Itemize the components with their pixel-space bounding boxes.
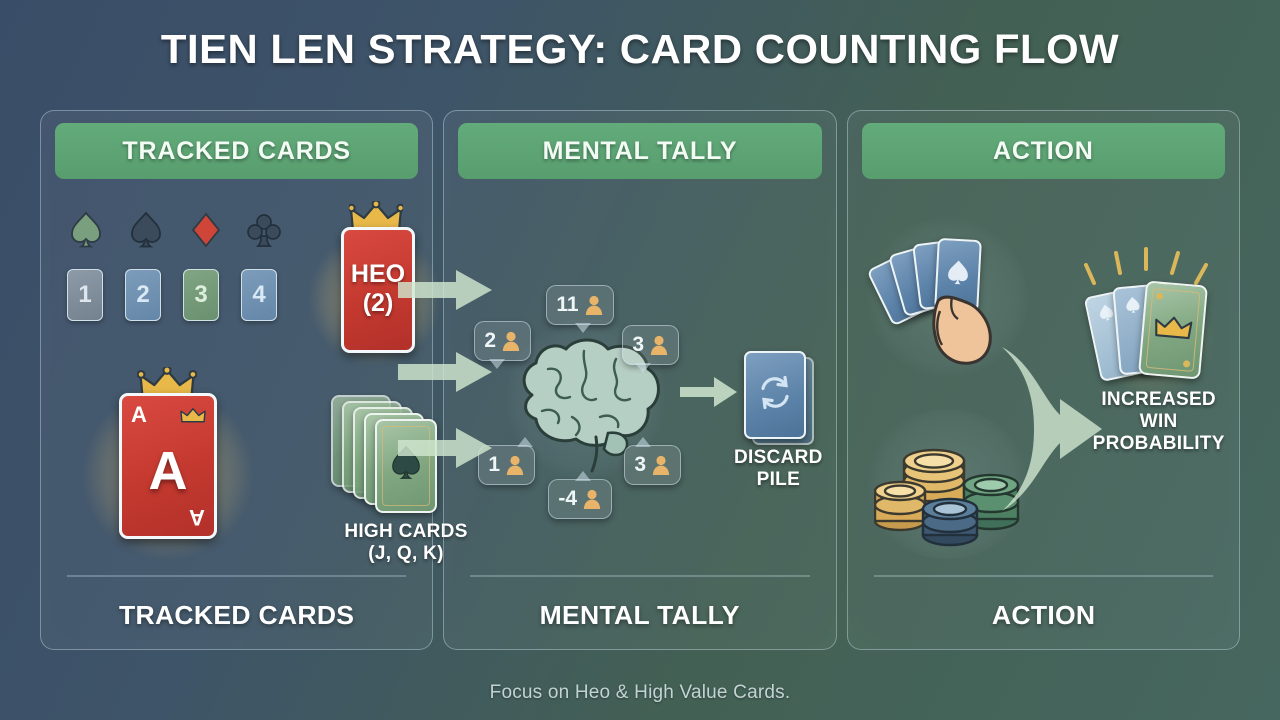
diamond-icon — [189, 211, 223, 249]
panel-tracked-cards: TRACKED CARDS 1 — [40, 110, 433, 650]
tally-bubble: -4 — [548, 479, 612, 519]
mini-card-value: 4 — [252, 281, 265, 309]
tally-bubble: 3 — [622, 325, 679, 365]
ace-card-corner-rank: A — [189, 504, 205, 530]
outcome-label-line3: PROBABILITY — [1066, 433, 1252, 455]
panel-header-mental-tally: MENTAL TALLY — [458, 123, 821, 179]
footer-caption: Focus on Heo & High Value Cards. — [0, 682, 1280, 704]
panels-container: TRACKED CARDS 1 — [40, 110, 1240, 650]
panel-body-action: INCREASED WIN PROBABILITY — [848, 189, 1239, 569]
discard-pile-label-line2: PILE — [710, 469, 846, 491]
person-icon — [584, 294, 604, 316]
mini-card-value: 1 — [78, 281, 91, 309]
person-icon — [649, 334, 669, 356]
discard-pile-card — [744, 351, 806, 439]
spade-icon — [1124, 295, 1142, 319]
outcome-label: INCREASED WIN PROBABILITY — [1066, 389, 1252, 455]
discard-pile-label: DISCARD PILE — [710, 447, 846, 491]
flow-arrow-tracked-to-tally-1 — [398, 266, 494, 319]
panel-header-action: ACTION — [862, 123, 1225, 179]
person-icon — [582, 488, 602, 510]
mini-card: 2 — [125, 269, 161, 321]
panel-body-mental-tally: 11 2 3 1 3 — [444, 189, 835, 569]
flow-arrow-tracked-to-tally-3 — [398, 424, 494, 477]
panel-mental-tally: MENTAL TALLY — [443, 110, 836, 650]
crown-icon — [180, 407, 206, 429]
panel-footer-mental-tally: MENTAL TALLY — [440, 600, 839, 631]
corner-dot — [1155, 292, 1163, 300]
flow-arrow-tracked-to-tally-2 — [398, 348, 494, 401]
ace-card-center-rank: A — [122, 440, 214, 502]
tally-bubble: 3 — [624, 445, 681, 485]
discard-pile-label-line1: DISCARD — [710, 447, 846, 469]
outcome-card-crown — [1138, 280, 1208, 379]
tally-bubble-value: 3 — [634, 453, 646, 477]
panel-divider — [874, 575, 1213, 577]
spade-icon — [129, 211, 163, 249]
panel-divider — [470, 575, 809, 577]
tally-bubble-value: 3 — [632, 333, 644, 357]
outcome-label-line1: INCREASED — [1066, 389, 1252, 411]
club-icon — [247, 211, 281, 249]
panel-footer-tracked-cards: TRACKED CARDS — [37, 600, 436, 631]
panel-body-tracked-cards: 1 2 3 4 HEO (2) — [41, 189, 432, 569]
mini-card: 1 — [67, 269, 103, 321]
ace-card-corner-rank: A — [131, 402, 147, 428]
corner-dot — [1182, 360, 1190, 368]
panel-header-tracked-cards: TRACKED CARDS — [55, 123, 418, 179]
refresh-icon — [757, 375, 793, 416]
page-title: TIEN LEN STRATEGY: CARD COUNTING FLOW — [0, 26, 1280, 73]
person-icon — [651, 454, 671, 476]
panel-divider — [67, 575, 406, 577]
flow-arrow-to-discard — [680, 375, 738, 414]
mini-card-value: 2 — [136, 281, 149, 309]
outcome-label-line2: WIN — [1066, 411, 1252, 433]
spade-icon — [69, 211, 103, 249]
mini-card: 3 — [183, 269, 219, 321]
tally-bubble-value: -4 — [558, 487, 577, 511]
tally-bubble: 11 — [546, 285, 613, 325]
mini-card-value: 3 — [194, 281, 207, 309]
spade-icon — [945, 258, 971, 291]
mini-card: 4 — [241, 269, 277, 321]
ace-card: A A A — [119, 393, 217, 539]
panel-footer-action: ACTION — [844, 600, 1243, 631]
tally-bubble-value: 11 — [556, 293, 578, 317]
crown-icon — [1152, 313, 1192, 346]
person-icon — [501, 330, 521, 352]
person-icon — [505, 454, 525, 476]
panel-action: ACTION — [847, 110, 1240, 650]
